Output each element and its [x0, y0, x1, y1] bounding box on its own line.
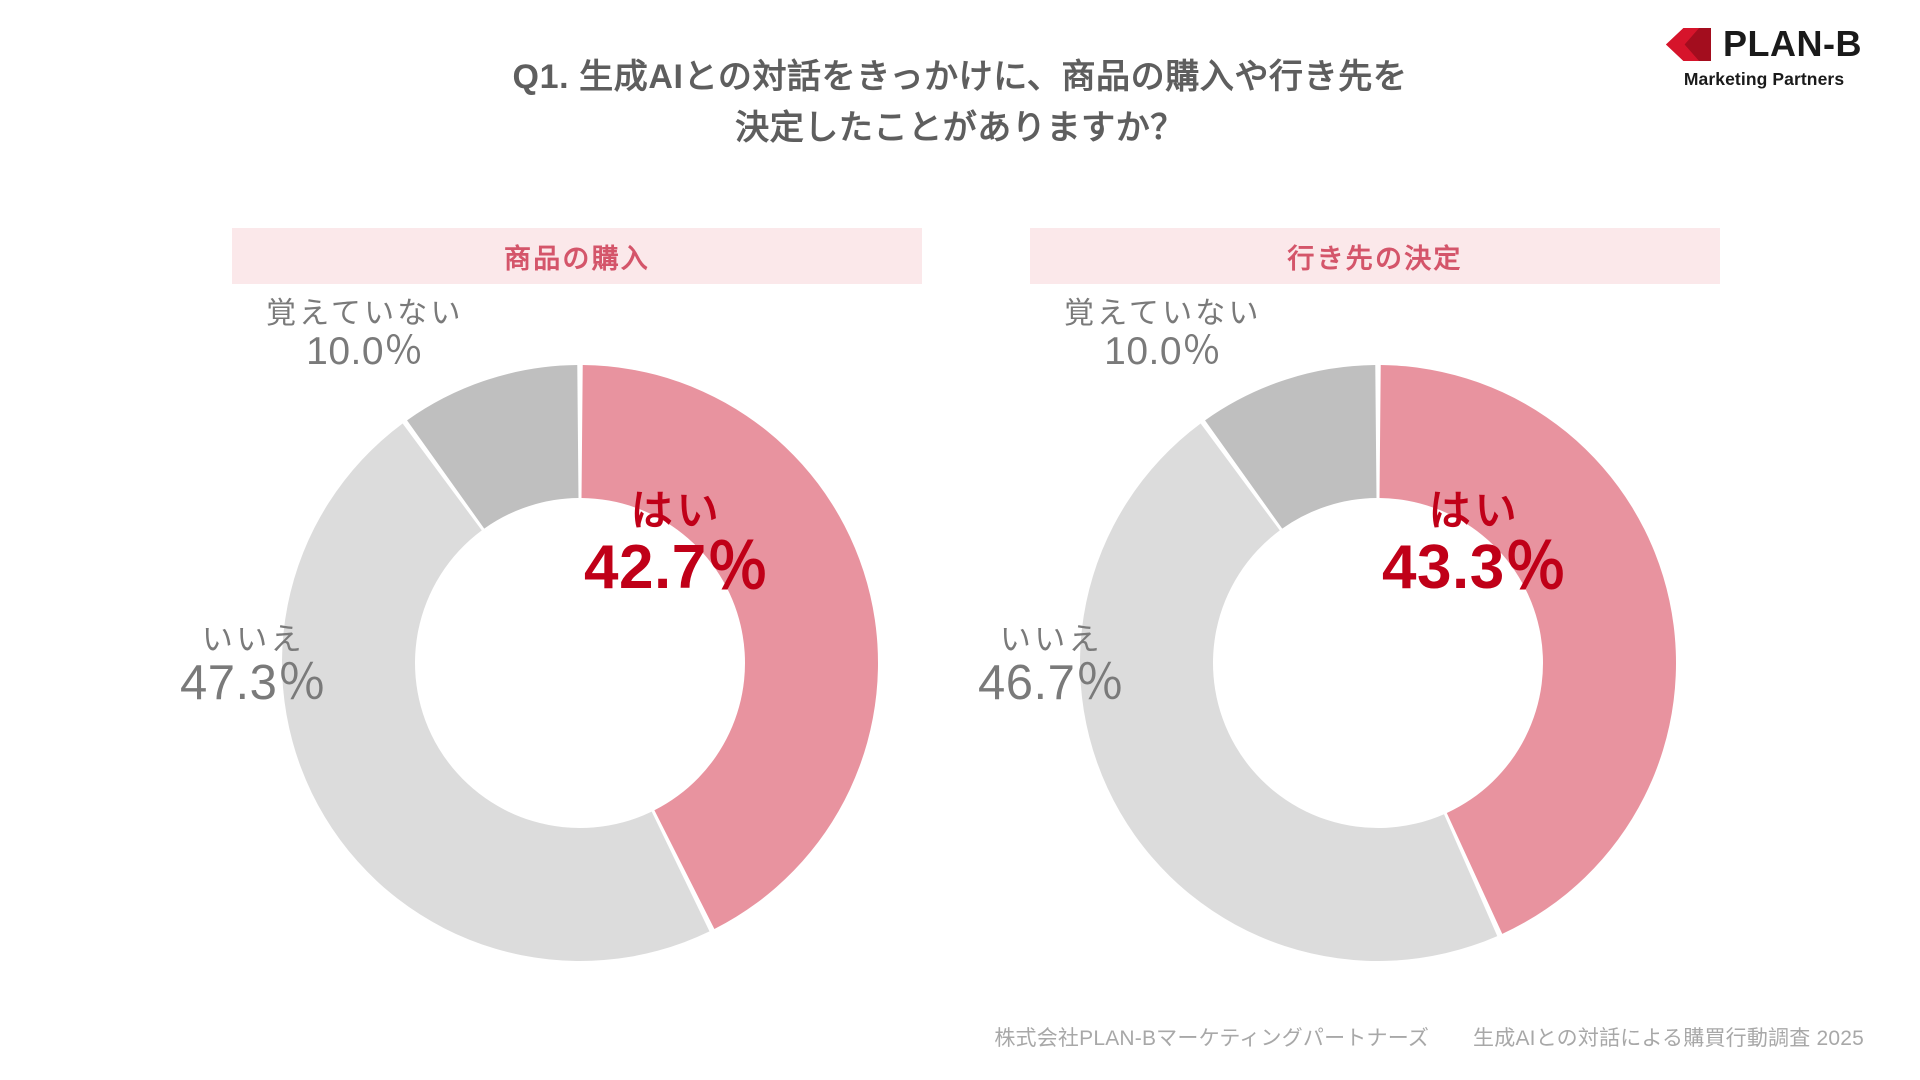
slice-label-no-category: いいえ — [180, 623, 327, 656]
panel-header-label: 商品の購入 — [504, 237, 650, 276]
donut-chart-product-purchase: 覚えていない 10.0％ いいえ 47.3％ はい 42.7％ — [232, 298, 922, 998]
footer: 株式会社PLAN-Bマーケティングパートナーズ 生成AIとの対話による購買行動調… — [994, 1022, 1864, 1052]
chart-panel-product-purchase: 商品の購入 覚えていない 10.0％ いいえ 47.3％ はい 42.7％ — [232, 228, 922, 998]
footer-survey: 生成AIとの対話による購買行動調査 2025 — [1473, 1022, 1864, 1052]
slice-label-dontknow-category: 覚えていない — [1064, 298, 1262, 330]
slice-label-dontknow: 覚えていない 10.0％ — [266, 298, 464, 374]
slice-label-yes: はい 42.7％ — [584, 488, 769, 602]
slice-label-yes-category: はい — [1382, 488, 1567, 533]
donut-chart-destination-decision: 覚えていない 10.0％ いいえ 46.7％ はい 43.3％ — [1030, 298, 1720, 998]
footer-company: 株式会社PLAN-Bマーケティングパートナーズ — [994, 1022, 1429, 1052]
slice-label-dontknow-value: 10.0％ — [266, 331, 464, 373]
panel-header: 行き先の決定 — [1030, 228, 1720, 284]
slice-label-yes-category: はい — [584, 488, 769, 533]
donut-chart-svg — [232, 298, 922, 998]
slice-label-no-value: 47.3％ — [180, 657, 327, 710]
donut-slices — [282, 365, 878, 961]
panel-header-label: 行き先の決定 — [1287, 237, 1462, 276]
slice-label-no-value: 46.7％ — [978, 657, 1125, 710]
slice-label-dontknow-category: 覚えていない — [266, 298, 464, 330]
page-title: Q1. 生成AIとの対話をきっかけに、商品の購入や行き先を 決定したことがありま… — [0, 52, 1920, 154]
donut-slices — [1080, 365, 1676, 961]
slice-label-no: いいえ 46.7％ — [978, 623, 1125, 710]
slide-canvas: PLAN-B Marketing Partners Q1. 生成AIとの対話をき… — [0, 0, 1920, 1080]
page-title-line-2: 決定したことがありますか？ — [0, 103, 1920, 154]
chart-panel-destination-decision: 行き先の決定 覚えていない 10.0％ いいえ 46.7％ はい 43.3％ — [1030, 228, 1720, 998]
slice-label-dontknow-value: 10.0％ — [1064, 331, 1262, 373]
slice-label-yes-value: 42.7％ — [584, 535, 769, 602]
page-title-line-1: Q1. 生成AIとの対話をきっかけに、商品の購入や行き先を — [0, 52, 1920, 103]
donut-chart-svg — [1030, 298, 1720, 998]
slice-label-yes: はい 43.3％ — [1382, 488, 1567, 602]
slice-label-no: いいえ 47.3％ — [180, 623, 327, 710]
slice-label-yes-value: 43.3％ — [1382, 535, 1567, 602]
slice-label-no-category: いいえ — [978, 623, 1125, 656]
panel-header: 商品の購入 — [232, 228, 922, 284]
slice-label-dontknow: 覚えていない 10.0％ — [1064, 298, 1262, 374]
